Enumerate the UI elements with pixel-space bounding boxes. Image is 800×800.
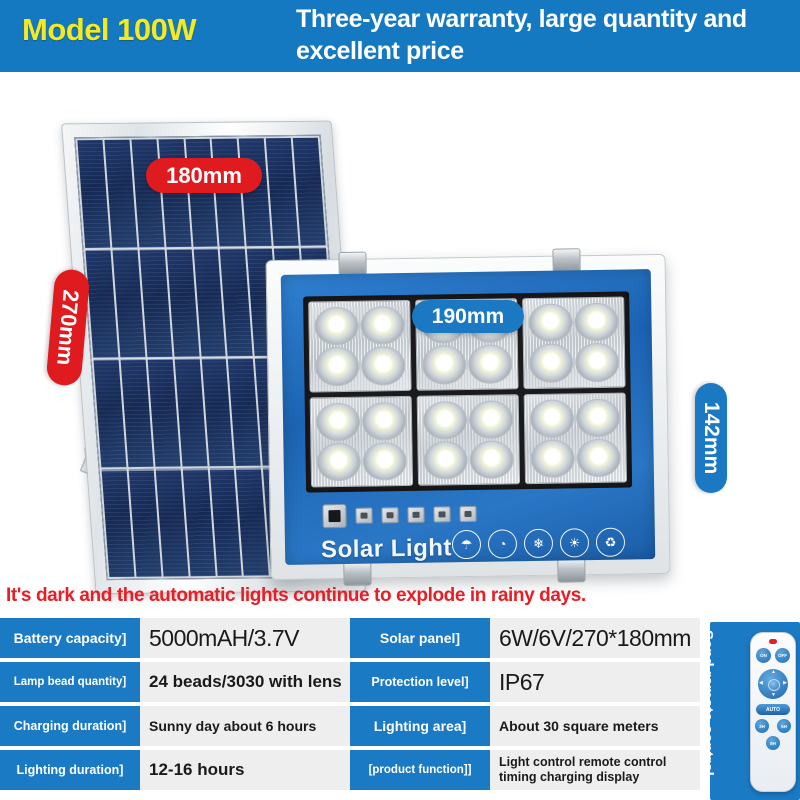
- table-row: Battery capacity] 5000mAH/3.7V Solar pan…: [0, 618, 700, 658]
- table-row: Charging duration] Sunny day about 6 hou…: [0, 706, 700, 746]
- spec-cell-protection-level: Protection level] IP67: [350, 662, 700, 702]
- spec-cell-lighting-area: Lighting area] About 30 square meters: [350, 706, 700, 746]
- remote-5h-button[interactable]: 5H: [777, 719, 791, 733]
- recycle-icon: ♻: [596, 528, 625, 557]
- led-module: [524, 392, 627, 484]
- remote-3h-button[interactable]: 3H: [755, 719, 769, 733]
- spec-value: Sunny day about 6 hours: [140, 706, 350, 746]
- sun-icon: ☀: [560, 528, 589, 557]
- indicator-icon: [433, 506, 450, 522]
- spec-label: Lighting area]: [350, 706, 490, 746]
- light-sensor-icon: ❄: [524, 529, 553, 558]
- spec-cell-lamp-bead-quantity: Lamp bead quantity] 24 beads/3030 with l…: [0, 662, 350, 702]
- indicator-icon: [407, 507, 424, 523]
- product-infographic: Model 100W Three-year warranty, large qu…: [0, 0, 800, 800]
- indicator-icon: [355, 508, 372, 524]
- model-title: Model 100W: [22, 12, 272, 48]
- spec-label: [product function]]: [350, 750, 490, 790]
- spec-label: Battery capacity]: [0, 618, 140, 658]
- mount-clip-icon: [552, 248, 580, 272]
- spec-cell-lighting-duration: Lighting duration] 12-16 hours: [0, 750, 350, 790]
- spec-cell-battery-capacity: Battery capacity] 5000mAH/3.7V: [0, 618, 350, 658]
- spec-label: Solar panel]: [350, 618, 490, 658]
- dimension-label-lamp-width: 190mm: [412, 300, 524, 333]
- spec-label: Lighting duration]: [0, 750, 140, 790]
- sensor-strip: [322, 502, 476, 528]
- spec-value: 12-16 hours: [140, 750, 350, 790]
- spec-cell-product-function: [product function]] Light control remote…: [350, 750, 700, 790]
- header-tagline: Three-year warranty, large quantity and …: [296, 4, 786, 67]
- dimension-label-panel-width: 180mm: [146, 158, 262, 193]
- spec-value: 5000mAH/3.7V: [140, 618, 350, 658]
- spec-value: 24 beads/3030 with lens: [140, 662, 350, 702]
- remote-caption: Send remote control: [710, 630, 716, 780]
- brand-label: Solar Light: [321, 534, 452, 564]
- remote-ok-button[interactable]: [768, 679, 780, 691]
- spec-value: IP67: [490, 662, 700, 702]
- remote-off-button[interactable]: OFF: [775, 648, 790, 663]
- dimension-label-lamp-height: 142mm: [695, 383, 727, 493]
- spec-table: Battery capacity] 5000mAH/3.7V Solar pan…: [0, 618, 700, 794]
- spec-cell-solar-panel: Solar panel] 6W/6V/270*180mm: [350, 618, 700, 658]
- spec-cell-charging-duration: Charging duration] Sunny day about 6 hou…: [0, 706, 350, 746]
- indicator-icon: [459, 506, 476, 522]
- led-module: [308, 300, 411, 392]
- led-module: [310, 395, 413, 487]
- remote-dpad[interactable]: ▲ ◀ ▶ ▼: [758, 669, 788, 699]
- table-row: Lighting duration] 12-16 hours [product …: [0, 750, 700, 790]
- mount-clip-icon: [343, 562, 371, 586]
- spec-label: Protection level]: [350, 662, 490, 702]
- header-banner: Model 100W Three-year warranty, large qu…: [0, 0, 800, 72]
- spec-label: Charging duration]: [0, 706, 140, 746]
- spec-value: About 30 square meters: [490, 706, 700, 746]
- remote-control-panel: Send remote control ON OFF ▲ ◀ ▶ ▼ AUTO …: [710, 622, 800, 800]
- spec-value: 6W/6V/270*180mm: [490, 618, 700, 658]
- light-sensor-icon: [322, 504, 346, 528]
- led-module: [417, 394, 520, 486]
- mount-clip-icon: [338, 252, 366, 276]
- waterproof-icon: ☂: [452, 530, 481, 559]
- remote-auto-button[interactable]: AUTO: [756, 704, 790, 715]
- feature-note: It's dark and the automatic lights conti…: [6, 585, 706, 607]
- spec-value: Light control remote control timing char…: [490, 750, 700, 790]
- feature-icon-row: ☂ ◔ ❄ ☀ ♻: [452, 528, 625, 560]
- indicator-icon: [381, 507, 398, 523]
- remote-on-button[interactable]: ON: [756, 648, 771, 663]
- remote-control-device: ON OFF ▲ ◀ ▶ ▼ AUTO 3H 5H 8H: [750, 632, 796, 792]
- mount-clip-icon: [557, 558, 585, 582]
- led-module: [522, 297, 625, 389]
- table-row: Lamp bead quantity] 24 beads/3030 with l…: [0, 662, 700, 702]
- remote-8h-button[interactable]: 8H: [766, 736, 780, 750]
- timer-icon: ◔: [488, 529, 517, 558]
- spec-label: Lamp bead quantity]: [0, 662, 140, 702]
- product-stage: Solar Light ☂ ◔ ❄ ☀ ♻ 180mm 270mm 190mm …: [0, 72, 800, 582]
- remote-led-icon: [769, 639, 777, 644]
